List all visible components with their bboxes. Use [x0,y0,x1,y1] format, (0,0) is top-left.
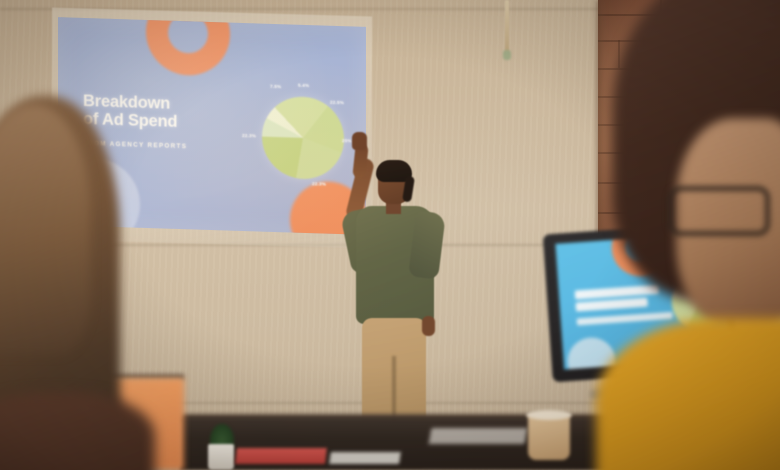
eyeglasses-icon [668,186,770,236]
hanging-cable [505,0,509,56]
pie-label-4: 22.3% [312,181,326,186]
slide-subtitle: FROM AGENCY REPORTS [83,140,273,153]
presenter-right-sleeve [408,210,446,279]
pie-chart-labels: 7.5%5.4%22.5%20%22.3%22.3% [248,81,358,84]
presenter-resting-hand [422,316,435,336]
pie-label-3: 20% [342,138,352,143]
pie-label-5: 22.3% [242,133,256,138]
potted-plant-pot [208,444,234,470]
cable-connector [503,50,511,60]
monitor-slide-title-line2 [575,298,647,312]
coffee-cup [528,414,570,460]
slide-title: Breakdown of Ad Spend [83,92,258,134]
paper-document-1 [329,452,401,464]
paper-document-2 [429,428,528,444]
pie-label-0: 7.5% [270,84,281,89]
presenter-pointing-hand [352,132,367,150]
coffee-cup-rim [526,410,572,420]
monitor-slide-subtitle [577,312,673,326]
screenshot-scene: Breakdown of Ad Spend FROM AGENCY REPORT… [0,0,780,470]
foreground-attendee-left-hair [0,104,90,354]
red-folder [235,448,327,464]
pie-label-1: 5.4% [298,83,309,88]
pie-label-2: 22.5% [330,100,344,105]
